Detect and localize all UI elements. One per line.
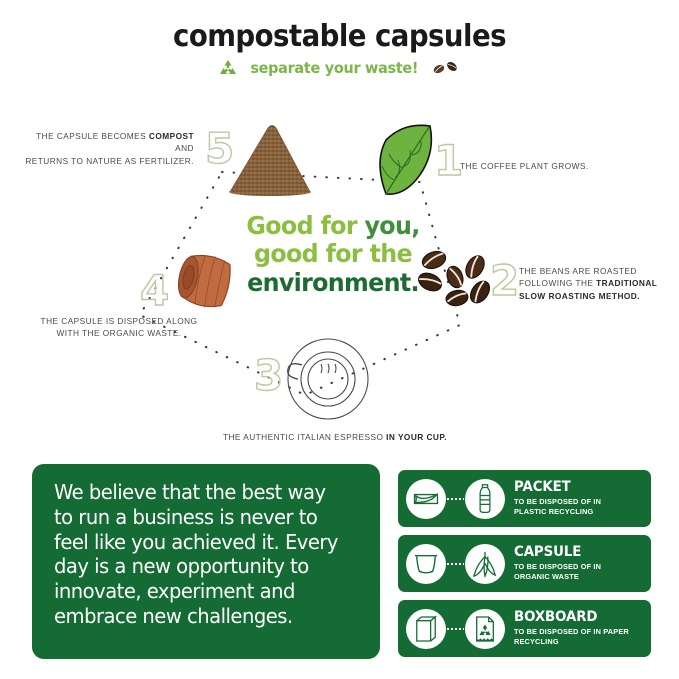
packet-icon-pair: [406, 479, 505, 519]
coffee-capsule-icon: [406, 544, 446, 584]
statement-line1-part1: Good for: [246, 211, 364, 240]
packet-pouch-icon: [406, 479, 446, 519]
step-5-caption: THE CAPSULE BECOMES COMPOST AND RETURNS …: [18, 130, 194, 167]
step-2-numeral: 2: [490, 260, 519, 302]
packet-card-text: PACKET TO BE DISPOSED OF IN PLASTIC RECY…: [514, 480, 604, 517]
boxboard-card-text: BOXBOARD TO BE DISPOSED OF IN PAPER RECY…: [514, 610, 632, 647]
quote-text: We believe that the best way to run a bu…: [54, 480, 348, 629]
espresso-cup-icon: [278, 335, 374, 423]
step-3-caption: THE AUTHENTIC ITALIAN ESPRESSO IN YOUR C…: [190, 431, 480, 443]
subtitle-text: separate your waste!: [251, 59, 419, 77]
step-1-numeral: 1: [434, 140, 463, 182]
boxboard-icon-pair: [406, 609, 505, 649]
page-title: compostable capsules: [27, 22, 652, 52]
step-4-numeral: 4: [140, 270, 169, 312]
plastic-bottle-icon: [465, 479, 505, 519]
carton-box-icon: [406, 609, 446, 649]
coffee-bean-icon: [431, 58, 461, 78]
connector-dots: [447, 563, 464, 565]
banana-peel-icon: [465, 544, 505, 584]
capsule-card-subtitle: TO BE DISPOSED OF IN ORGANIC WASTE: [514, 562, 601, 582]
header: compostable capsules separate your waste…: [0, 22, 679, 78]
capsule-card-title: CAPSULE: [514, 545, 597, 560]
step-2-caption: THE BEANS ARE ROASTED FOLLOWING THE TRAD…: [519, 265, 669, 302]
center-statement: Good for you, good for the environment.: [233, 212, 433, 297]
disposal-card-capsule[interactable]: CAPSULE TO BE DISPOSED OF IN ORGANIC WAS…: [398, 535, 651, 592]
capsule-card-text: CAPSULE TO BE DISPOSED OF IN ORGANIC WAS…: [514, 545, 604, 582]
boxboard-card-subtitle: TO BE DISPOSED OF IN PAPER RECYCLING: [514, 627, 629, 647]
boxboard-card-title: BOXBOARD: [514, 610, 623, 625]
statement-line2: good for the: [254, 239, 412, 268]
coffee-leaf-icon: [372, 122, 442, 202]
lifecycle-diagram: 5 THE CAPSULE BECOMES COMPOST AND RETURN…: [0, 100, 679, 455]
connector-dots: [447, 628, 464, 630]
packet-card-title: PACKET: [514, 480, 597, 495]
statement-line1-part2: you,: [364, 211, 419, 240]
quote-card: We believe that the best way to run a bu…: [32, 464, 380, 659]
capsule-icon-pair: [406, 544, 505, 584]
disposal-card-packet[interactable]: PACKET TO BE DISPOSED OF IN PLASTIC RECY…: [398, 470, 651, 527]
packet-card-subtitle: TO BE DISPOSED OF IN PLASTIC RECYCLING: [514, 497, 601, 517]
disposal-card-list: PACKET TO BE DISPOSED OF IN PLASTIC RECY…: [398, 470, 651, 657]
step-4-caption: THE CAPSULE IS DISPOSED ALONG WITH THE O…: [24, 315, 214, 340]
statement-line3: environment.: [247, 268, 419, 297]
subtitle-row: separate your waste!: [0, 58, 679, 78]
compost-pile-icon: [220, 118, 330, 198]
paper-recycle-sheet-icon: [465, 609, 505, 649]
connector-dots: [447, 498, 464, 500]
disposal-card-boxboard[interactable]: BOXBOARD TO BE DISPOSED OF IN PAPER RECY…: [398, 600, 651, 657]
step-1-caption: THE COFFEE PLANT GROWS.: [460, 160, 640, 172]
recycle-arrows-icon: [218, 59, 238, 78]
